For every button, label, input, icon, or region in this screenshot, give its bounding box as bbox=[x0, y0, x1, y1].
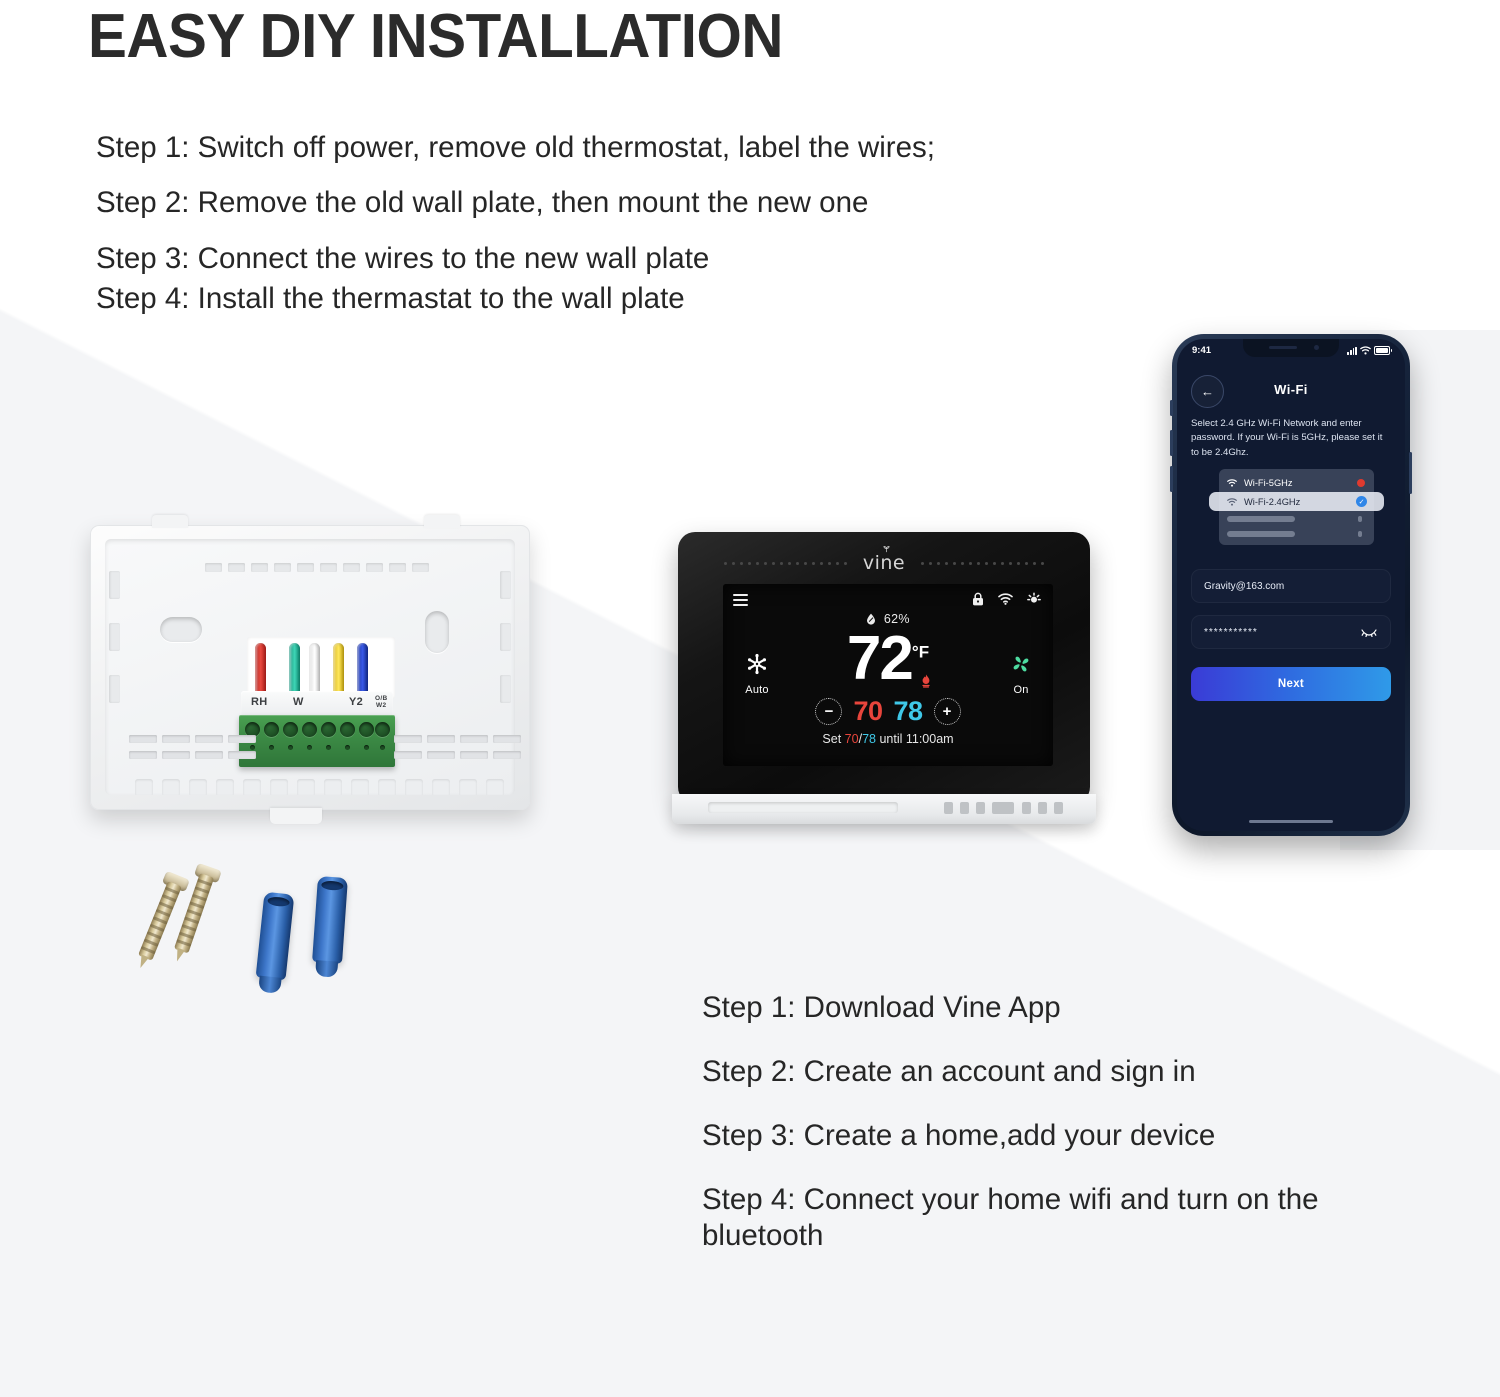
phone-volume-up-button[interactable] bbox=[1170, 430, 1173, 456]
install-step-4: Step 4: Install the thermastat to the wa… bbox=[96, 284, 1156, 314]
wall-anchor bbox=[256, 892, 295, 981]
app-setup-steps-list: Step 1: Download Vine App Step 2: Create… bbox=[702, 990, 1402, 1282]
page-title: Wi-Fi bbox=[1177, 382, 1405, 397]
wire-red bbox=[255, 643, 266, 695]
password-value: *********** bbox=[1204, 627, 1258, 638]
wifi-network-row-24ghz[interactable]: Wi-Fi-2.4GHz ✓ bbox=[1209, 492, 1384, 511]
installation-steps-list: Step 1: Switch off power, remove old the… bbox=[96, 133, 1156, 340]
mounting-hole-right bbox=[425, 611, 449, 653]
wifi-network-row-5ghz[interactable]: Wi-Fi-5GHz bbox=[1219, 473, 1374, 492]
terminal-label-y2: Y2 bbox=[349, 696, 363, 708]
brand-logo: vine bbox=[863, 552, 905, 574]
terminal-label-w: W bbox=[293, 696, 304, 708]
thermostat-base bbox=[672, 794, 1096, 824]
phone-screen: 9:41 ← Wi-Fi Select 2.4 GHz Wi bbox=[1177, 339, 1405, 831]
wall-plate-bottom-vents bbox=[135, 779, 515, 797]
wifi-icon[interactable] bbox=[998, 593, 1013, 605]
terminal-label-ob: O/B W2 bbox=[375, 696, 387, 710]
install-step-3: Step 3: Connect the wires to the new wal… bbox=[96, 244, 1156, 274]
thermostat-status-bar bbox=[733, 592, 1041, 610]
thermostat-device: vine bbox=[672, 532, 1102, 832]
phone-power-button[interactable] bbox=[1409, 452, 1412, 494]
speaker-grille-left bbox=[724, 562, 847, 565]
wall-plate-image: RH W Y2 O/B W2 bbox=[90, 525, 540, 835]
brightness-icon[interactable] bbox=[1027, 592, 1041, 606]
snowflake-icon[interactable] bbox=[745, 652, 769, 676]
email-value: Gravity@163.com bbox=[1204, 581, 1284, 592]
fan-control[interactable]: On bbox=[997, 652, 1045, 696]
schedule-prefix: Set bbox=[822, 732, 844, 746]
status-bar-icons bbox=[1347, 346, 1390, 355]
blue-check-badge: ✓ bbox=[1356, 496, 1367, 507]
mounting-hardware-image bbox=[150, 865, 400, 1000]
speaker-grille-right bbox=[921, 562, 1044, 565]
wire-green bbox=[289, 643, 300, 695]
sprout-icon bbox=[882, 546, 891, 553]
red-dot-badge bbox=[1357, 479, 1365, 487]
wifi-network-list: Wi-Fi-5GHz Wi-Fi-2.4GHz ✓ bbox=[1219, 469, 1374, 545]
app-step-4: Step 4: Connect your home wifi and turn … bbox=[702, 1182, 1342, 1254]
wall-plate-vents bbox=[129, 735, 521, 771]
flame-icon bbox=[921, 674, 931, 688]
setpoint-controls: − 70 78 + bbox=[723, 696, 1053, 727]
page-title: EASY DIY INSTALLATION bbox=[88, 4, 783, 69]
battery-icon bbox=[1374, 346, 1390, 355]
lock-icon[interactable] bbox=[972, 592, 984, 606]
app-step-3: Step 3: Create a home,add your device bbox=[702, 1118, 1402, 1154]
thermostat-brand-row: vine bbox=[678, 554, 1090, 572]
wifi-network-row-placeholder bbox=[1219, 526, 1374, 541]
app-step-2: Step 2: Create an account and sign in bbox=[702, 1054, 1402, 1090]
terminal-label-rh: RH bbox=[251, 696, 268, 708]
phone-frame: 9:41 ← Wi-Fi Select 2.4 GHz Wi bbox=[1172, 334, 1410, 836]
setpoint-high-value[interactable]: 78 bbox=[894, 696, 923, 727]
setpoint-low-value[interactable]: 70 bbox=[853, 696, 882, 727]
schedule-suffix: until 11:00am bbox=[876, 732, 954, 746]
wifi-icon bbox=[1227, 479, 1237, 487]
wifi-network-name: Wi-Fi-5GHz bbox=[1244, 478, 1293, 488]
fan-label: On bbox=[997, 684, 1045, 696]
thermostat-status-icons bbox=[972, 592, 1041, 606]
wifi-network-row-placeholder bbox=[1219, 511, 1374, 526]
wall-anchor-taper bbox=[258, 976, 282, 994]
password-field[interactable]: *********** bbox=[1191, 615, 1391, 649]
signal-bars-icon bbox=[1347, 347, 1357, 355]
phone-header: ← Wi-Fi bbox=[1177, 375, 1405, 409]
increase-temperature-button[interactable]: + bbox=[934, 698, 961, 725]
decrease-temperature-button[interactable]: − bbox=[815, 698, 842, 725]
wifi-icon bbox=[1227, 498, 1237, 506]
status-time: 9:41 bbox=[1192, 345, 1211, 356]
wifi-instruction-text: Select 2.4 GHz Wi-Fi Network and enter p… bbox=[1191, 417, 1391, 460]
eye-off-icon[interactable] bbox=[1361, 627, 1377, 637]
hvac-mode-label: Auto bbox=[733, 684, 781, 696]
wall-plate-bottom-tab bbox=[270, 808, 322, 824]
wall-plate-body: RH W Y2 O/B W2 bbox=[90, 525, 530, 810]
temperature-value: 72 bbox=[847, 624, 912, 693]
home-indicator bbox=[1249, 820, 1333, 824]
thermostat-housing: vine bbox=[678, 532, 1090, 804]
app-step-1: Step 1: Download Vine App bbox=[702, 990, 1402, 1026]
phone-status-bar: 9:41 bbox=[1177, 343, 1405, 358]
wall-anchor bbox=[312, 876, 348, 964]
schedule-low: 70 bbox=[845, 732, 859, 746]
wifi-icon bbox=[1360, 346, 1371, 355]
phone-silent-switch[interactable] bbox=[1170, 400, 1173, 416]
terminal-label-ob-line2: W2 bbox=[376, 702, 386, 709]
install-step-1: Step 1: Switch off power, remove old the… bbox=[96, 133, 1156, 163]
wifi-network-name: Wi-Fi-2.4GHz bbox=[1244, 497, 1300, 507]
wall-plate-inner-recess: RH W Y2 O/B W2 bbox=[105, 539, 515, 795]
install-step-2: Step 2: Remove the old wall plate, then … bbox=[96, 188, 1156, 218]
mounting-hole-left bbox=[160, 617, 202, 642]
fan-icon[interactable] bbox=[1009, 652, 1033, 676]
wall-plate-tab bbox=[152, 515, 188, 528]
wire-yellow bbox=[333, 643, 344, 695]
temperature-unit: °F bbox=[912, 642, 929, 661]
wire-access-window bbox=[247, 637, 395, 699]
next-button[interactable]: Next bbox=[1191, 667, 1391, 701]
wire-blue bbox=[357, 643, 368, 695]
screw-tip bbox=[173, 948, 185, 963]
wall-plate-top-vents bbox=[205, 563, 435, 573]
thermostat-screen[interactable]: 62% 72°F bbox=[723, 584, 1053, 766]
wire-white bbox=[309, 643, 320, 695]
email-field[interactable]: Gravity@163.com bbox=[1191, 569, 1391, 603]
phone-volume-down-button[interactable] bbox=[1170, 466, 1173, 492]
brand-name: vine bbox=[863, 552, 905, 574]
terminal-label-plate: RH W Y2 O/B W2 bbox=[241, 691, 393, 717]
hvac-mode-control[interactable]: Auto bbox=[733, 652, 781, 696]
schedule-status-text: Set 70/78 until 11:00am bbox=[723, 732, 1053, 746]
wall-anchor-taper bbox=[315, 960, 338, 977]
hamburger-menu-icon[interactable] bbox=[733, 594, 748, 606]
base-slot bbox=[708, 802, 898, 813]
wall-plate-tab bbox=[424, 515, 460, 528]
schedule-high: 78 bbox=[862, 732, 876, 746]
phone-mockup: 9:41 ← Wi-Fi Select 2.4 GHz Wi bbox=[1172, 334, 1416, 846]
